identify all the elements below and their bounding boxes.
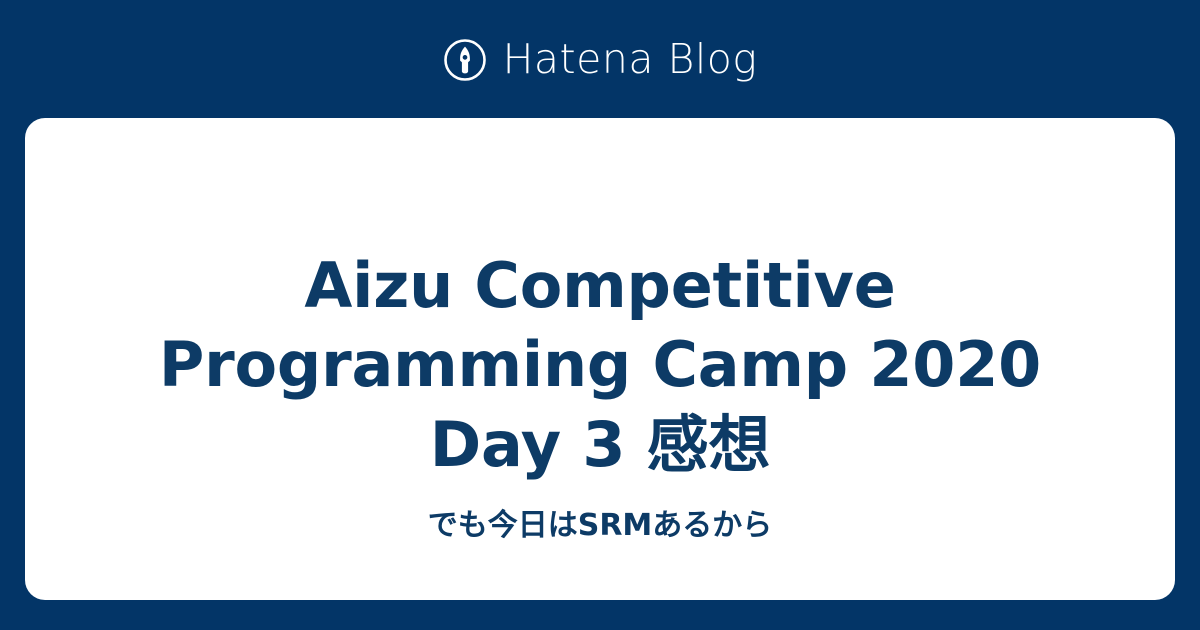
hatena-pen-nib-icon	[443, 38, 487, 82]
ogp-card-canvas: Hatena Blog Aizu Competitive Programming…	[0, 0, 1200, 630]
hatena-blog-service-name: Hatena Blog	[503, 39, 758, 80]
hatena-blog-brand-header: Hatena Blog	[0, 0, 1200, 118]
blog-title: でも今日はSRMあるから	[85, 506, 1115, 545]
entry-card: Aizu Competitive Programming Camp 2020 D…	[25, 118, 1175, 600]
entry-title: Aizu Competitive Programming Camp 2020 D…	[85, 246, 1115, 484]
